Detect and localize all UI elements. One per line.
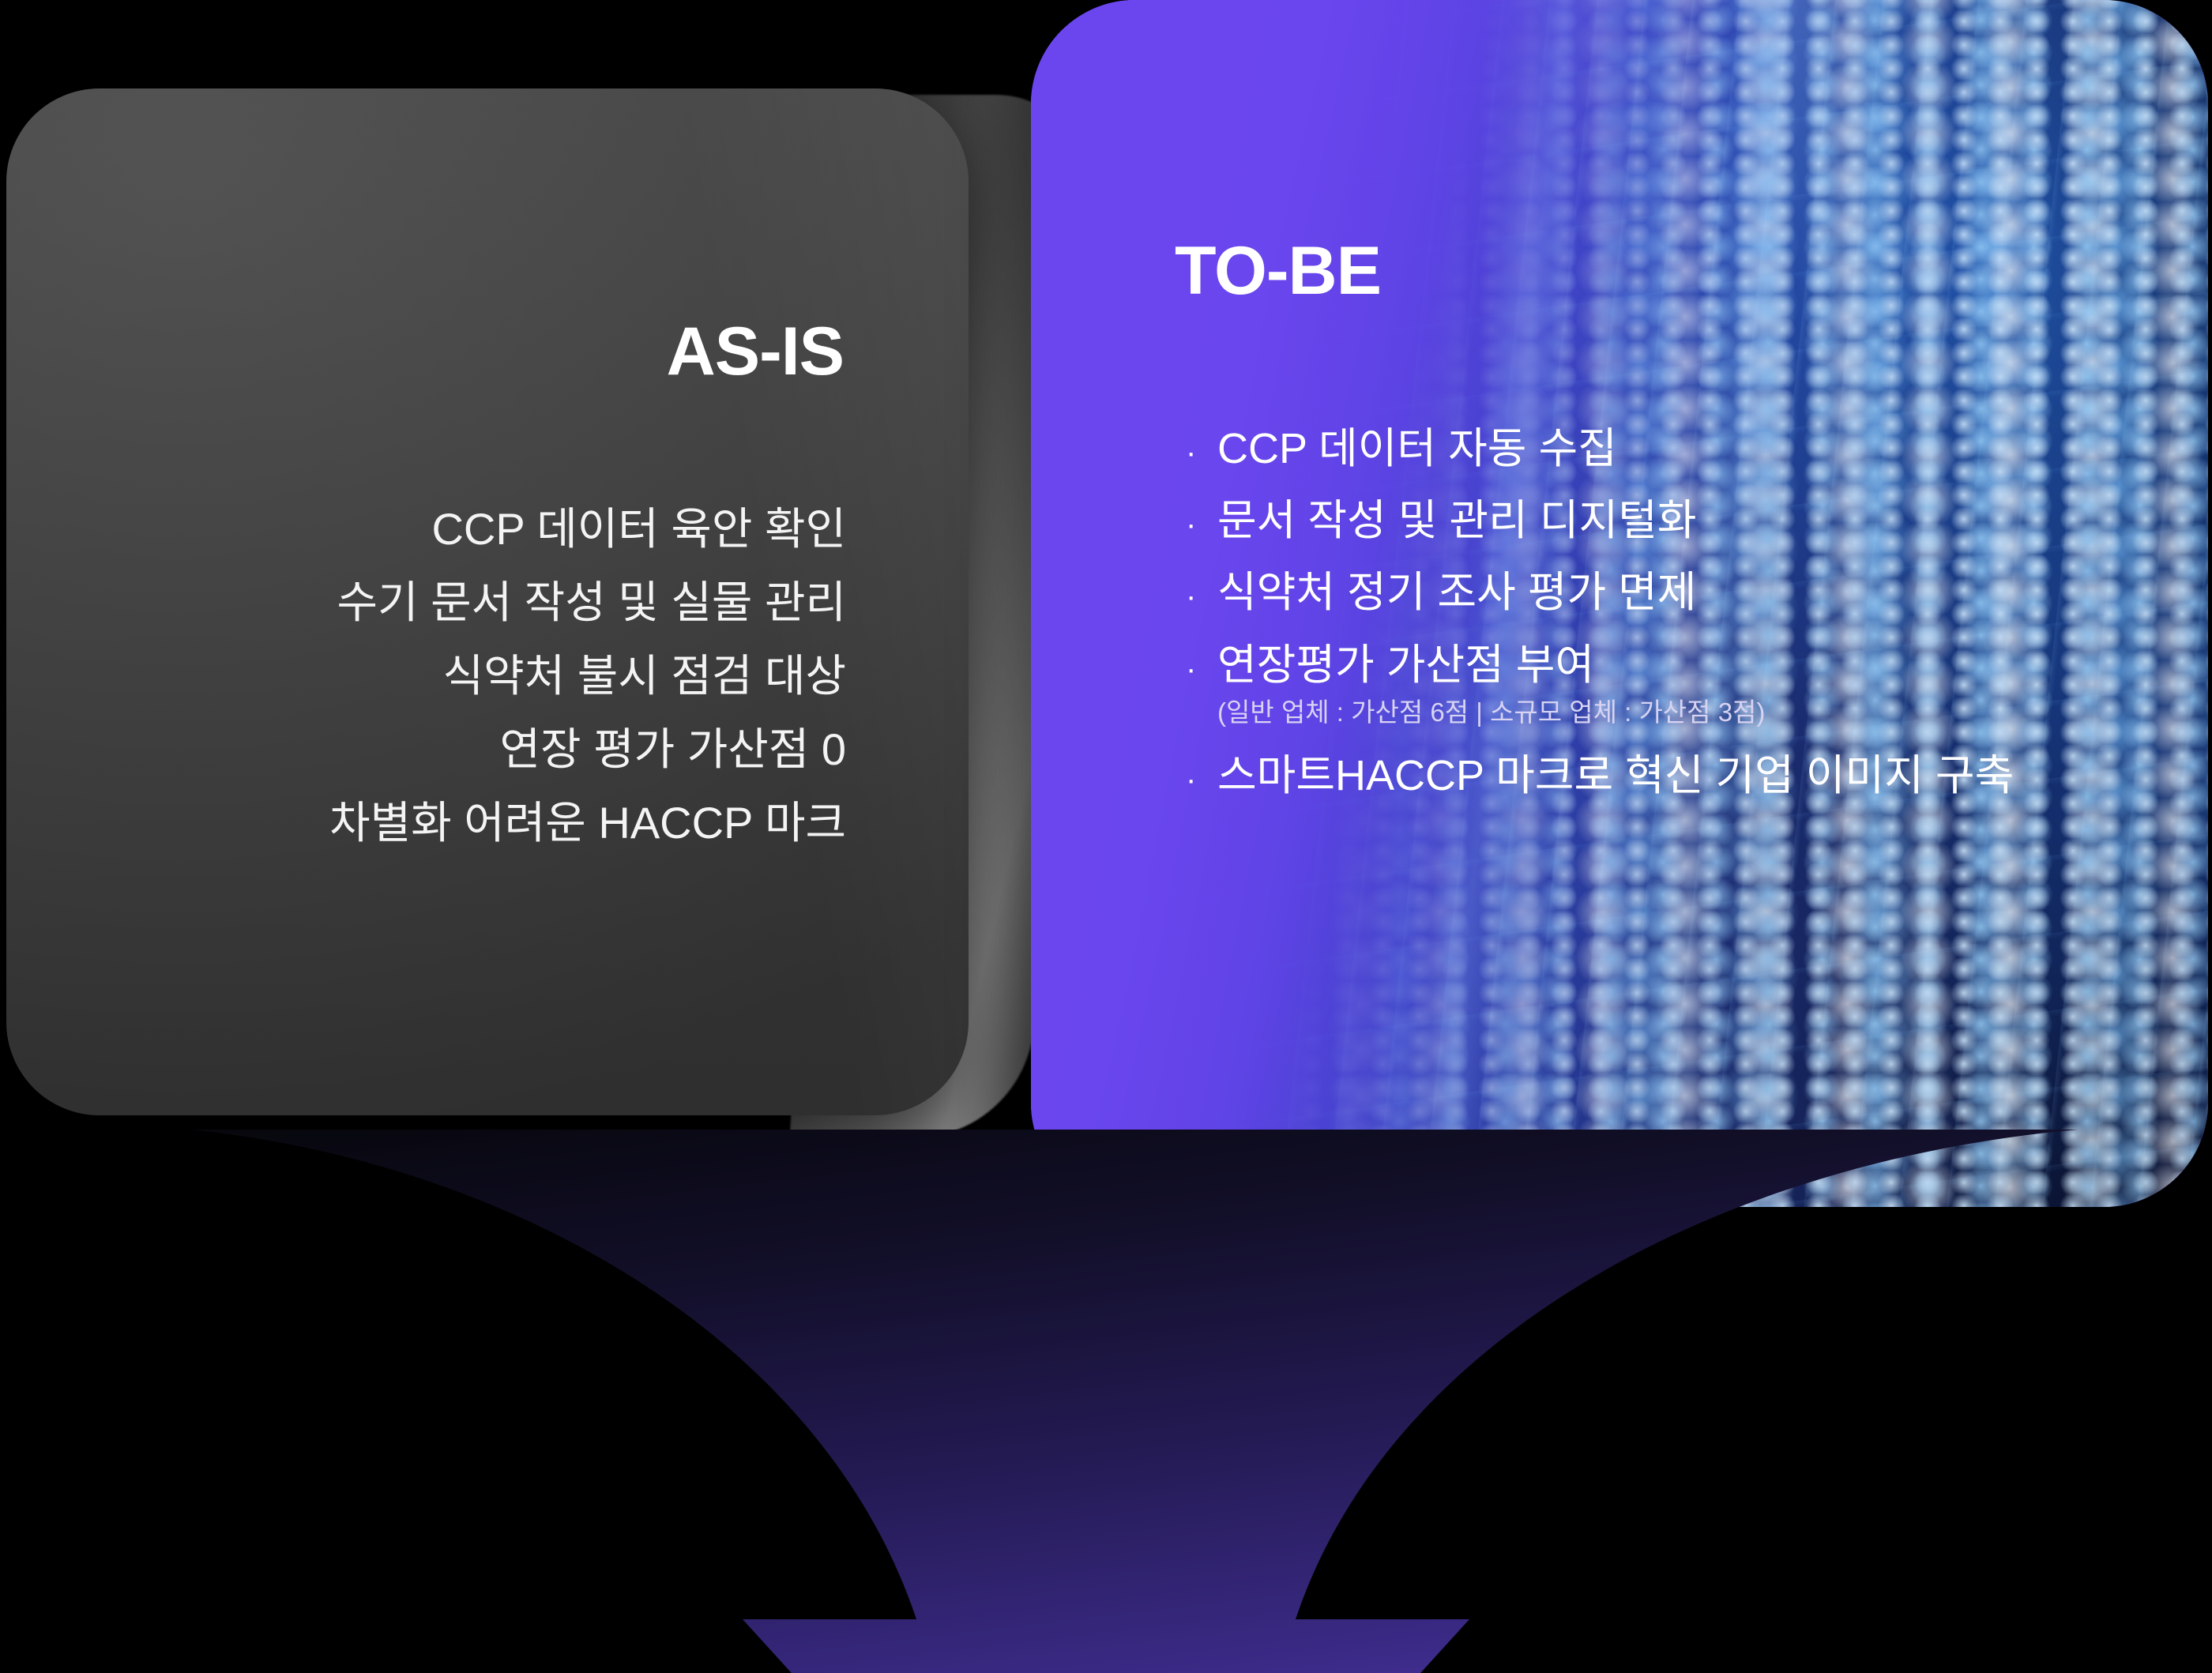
asis-list-item: 식약처 불시 점검 대상: [96, 654, 846, 698]
bullet-dot-icon: ·: [1186, 508, 1217, 541]
tobe-list-item: · CCP 데이터 자동 수집: [1186, 427, 2205, 472]
tobe-list-item: · 문서 작성 및 관리 디지털화: [1186, 498, 2205, 543]
tobe-list-item-note: (일반 업체 : 가산점 6점 | 소규모 업체 : 가산점 3점): [1217, 698, 2205, 727]
tobe-list-item: · 식약처 정기 조사 평가 면제: [1186, 570, 2205, 615]
bullet-dot-icon: ·: [1186, 763, 1217, 796]
bullet-dot-icon: ·: [1186, 436, 1217, 469]
tobe-list-item-label: 식약처 정기 조사 평가 면제: [1217, 570, 1697, 615]
tobe-list-item-label: 문서 작성 및 관리 디지털화: [1217, 498, 1697, 543]
tobe-list-item-label: 스마트HACCP 마크로 혁신 기업 이미지 구축: [1217, 754, 2014, 799]
asis-list-item: CCP 데이터 육안 확인: [96, 507, 846, 551]
asis-list-item: 연장 평가 가산점 0: [96, 727, 846, 772]
bullet-dot-icon: ·: [1186, 652, 1217, 686]
merge-down-arrow: [0, 1130, 2212, 1673]
asis-card: AS-IS CCP 데이터 육안 확인 수기 문서 작성 및 실물 관리 식약처…: [6, 88, 969, 1115]
asis-title: AS-IS: [667, 318, 844, 385]
infographic-canvas: AS-IS CCP 데이터 육안 확인 수기 문서 작성 및 실물 관리 식약처…: [0, 0, 2212, 1673]
tobe-list-item-label: CCP 데이터 자동 수집: [1217, 427, 1617, 472]
asis-list-item: 수기 문서 작성 및 실물 관리: [96, 581, 846, 625]
arrow-shape: [190, 1130, 2078, 1673]
bullet-dot-icon: ·: [1186, 580, 1217, 613]
tobe-list: · CCP 데이터 자동 수집 · 문서 작성 및 관리 디지털화 · 식약처 …: [1186, 427, 2205, 799]
asis-list-item: 차별화 어려운 HACCP 마크: [96, 801, 846, 845]
tobe-title: TO-BE: [1175, 237, 1381, 305]
tobe-list-item: · 스마트HACCP 마크로 혁신 기업 이미지 구축: [1186, 754, 2205, 799]
tobe-card: TO-BE · CCP 데이터 자동 수집 · 문서 작성 및 관리 디지털화 …: [1031, 0, 2208, 1207]
tobe-list-item-label: 연장평가 가산점 부여: [1217, 643, 1594, 688]
tobe-list-item: · 연장평가 가산점 부여 (일반 업체 : 가산점 6점 | 소규모 업체 :…: [1186, 643, 2205, 727]
asis-list: CCP 데이터 육안 확인 수기 문서 작성 및 실물 관리 식약처 불시 점검…: [96, 507, 846, 845]
